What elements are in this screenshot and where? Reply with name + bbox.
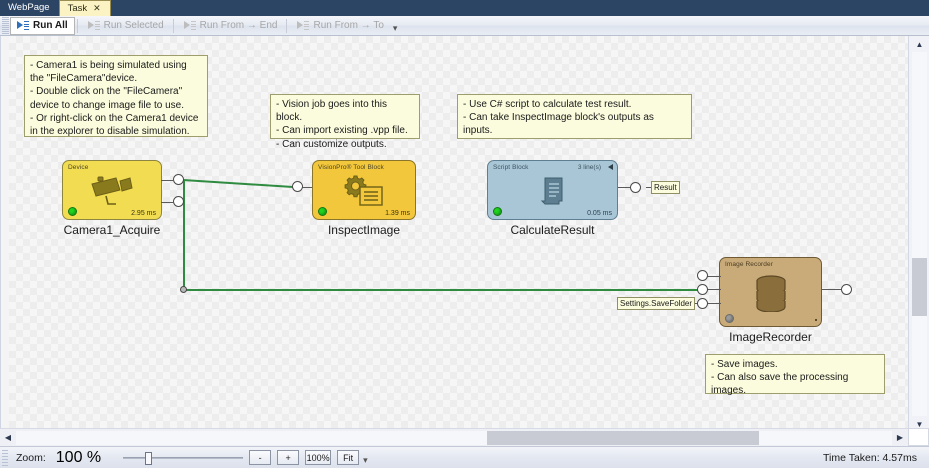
- zoom-in-button[interactable]: +: [277, 450, 299, 465]
- wire-camera-to-recorder-vertical: [183, 180, 185, 290]
- run-all-label: Run All: [33, 20, 68, 31]
- note-inspect[interactable]: - Vision job goes into this block. - Can…: [270, 94, 420, 139]
- block-image-recorder-body[interactable]: Image Recorder: [719, 257, 822, 327]
- block-calculate-result-body[interactable]: Script Block 3 line(s) 0.: [487, 160, 618, 220]
- toolbar-grip[interactable]: [2, 17, 9, 35]
- flow-canvas[interactable]: - Camera1 is being simulated using the "…: [9, 36, 908, 432]
- wire-stub-camera-out1: [161, 180, 173, 181]
- block-image-recorder[interactable]: Image Recorder ImageRecorder: [719, 257, 822, 327]
- block-inspect-image-time: 1.39 ms: [385, 210, 410, 217]
- block-image-recorder-type: Image Recorder: [725, 261, 773, 268]
- run-from-end-icon: [184, 20, 196, 31]
- status-bar-overflow-button[interactable]: ▾: [363, 455, 368, 468]
- wire-stub-camera-out2: [161, 202, 173, 203]
- block-inspect-image-body[interactable]: VisionPro® Tool Block 1.39: [312, 160, 416, 220]
- camera-icon: [63, 175, 161, 207]
- tab-bar: WebPage Task ✕: [0, 0, 929, 16]
- status-bar: Zoom: 100 % - + 100% Fit ▾ Time Taken: 4…: [0, 446, 929, 468]
- horizontal-scrollbar-track[interactable]: [16, 431, 892, 445]
- block-inspect-image[interactable]: VisionPro® Tool Block 1.39: [312, 160, 416, 220]
- block-calculate-result-type: Script Block: [493, 164, 529, 171]
- toolbar-separator-1: [77, 19, 78, 33]
- scroll-right-icon[interactable]: ▶: [892, 429, 908, 446]
- zoom-label: Zoom:: [16, 452, 46, 464]
- vertical-scrollbar-track[interactable]: [912, 52, 927, 416]
- block-calculate-result[interactable]: Script Block 3 line(s) 0.: [487, 160, 618, 220]
- zoom-slider-track[interactable]: [123, 457, 243, 459]
- tab-task[interactable]: Task ✕: [59, 0, 111, 16]
- zoom-slider[interactable]: [123, 450, 243, 466]
- run-from-to-icon: [297, 20, 309, 31]
- tag-savefolder[interactable]: Settings.SaveFolder: [617, 297, 695, 310]
- tag-result[interactable]: Result: [651, 181, 680, 194]
- tab-webpage-label: WebPage: [8, 3, 50, 13]
- wire-stub-recorder-in1: [707, 276, 721, 277]
- block-inspect-image-status: [318, 207, 327, 216]
- wire-stub-recorder-in3: [707, 303, 721, 304]
- block-camera1-acquire-type: Device: [68, 164, 88, 171]
- block-image-recorder-label: ImageRecorder: [689, 330, 852, 344]
- run-all-button[interactable]: Run All: [10, 17, 75, 35]
- toolbar-overflow-button[interactable]: ▾: [393, 23, 398, 35]
- scrollbar-corner: [908, 428, 929, 446]
- flow-canvas-container: - Camera1 is being simulated using the "…: [0, 36, 929, 432]
- script-icon: [488, 175, 617, 207]
- port-recorder-in-3[interactable]: [697, 298, 708, 309]
- run-selected-button[interactable]: Run Selected: [81, 17, 171, 35]
- tab-task-label: Task: [68, 4, 88, 14]
- block-camera1-acquire-label: Camera1_Acquire: [32, 223, 192, 237]
- toolbar-separator-2: [173, 19, 174, 33]
- block-camera1-acquire-status: [68, 207, 77, 216]
- note-recorder[interactable]: - Save images. - Can also save the proce…: [705, 354, 885, 394]
- run-from-to-button[interactable]: Run From → To: [290, 17, 390, 35]
- block-calculate-result-label: CalculateResult: [457, 223, 648, 237]
- status-bar-grip[interactable]: [2, 450, 8, 466]
- close-icon[interactable]: ✕: [93, 4, 101, 13]
- block-inspect-image-type: VisionPro® Tool Block: [318, 164, 384, 171]
- run-selected-icon: [88, 20, 100, 31]
- run-all-icon: [17, 20, 29, 31]
- scroll-left-icon[interactable]: ◀: [0, 429, 16, 446]
- time-taken-label: Time Taken: 4.57ms: [823, 452, 917, 464]
- port-recorder-out[interactable]: [841, 284, 852, 295]
- wire-stub-recorder-in2: [707, 289, 721, 290]
- wire-stub-recorder-out: [821, 289, 841, 290]
- wire-camera-to-recorder-horizontal: [183, 289, 702, 291]
- scroll-up-icon[interactable]: ▲: [909, 36, 929, 52]
- port-recorder-in-1[interactable]: [697, 270, 708, 281]
- toolbar-separator-3: [286, 19, 287, 33]
- block-image-recorder-status: [725, 314, 734, 323]
- vertical-scrollbar-thumb[interactable]: [912, 258, 927, 316]
- zoom-reset-button[interactable]: 100%: [305, 450, 331, 465]
- zoom-value: 100 %: [56, 449, 101, 467]
- zoom-out-button[interactable]: -: [249, 450, 271, 465]
- block-camera1-acquire-body[interactable]: Device 2.95 ms: [62, 160, 162, 220]
- run-from-end-button[interactable]: Run From → End: [177, 17, 285, 35]
- zoom-fit-button[interactable]: Fit: [337, 450, 359, 465]
- database-icon: [720, 272, 821, 314]
- tab-bar-filler: [111, 0, 929, 16]
- port-camera-out-1[interactable]: [173, 174, 184, 185]
- run-selected-label: Run Selected: [104, 20, 164, 31]
- port-camera-out-2[interactable]: [173, 196, 184, 207]
- block-inspect-image-label: InspectImage: [282, 223, 446, 237]
- block-camera1-acquire[interactable]: Device 2.95 ms Camera1_Acquire: [62, 160, 162, 220]
- collapse-arrow-icon[interactable]: [608, 164, 613, 170]
- run-from-to-label: Run From → To: [313, 20, 383, 31]
- port-inspect-in-1[interactable]: [292, 181, 303, 192]
- port-wire-junction[interactable]: [180, 286, 187, 293]
- block-calculate-result-time: 0.05 ms: [587, 210, 612, 217]
- block-calculate-result-status: [493, 207, 502, 216]
- block-camera1-acquire-time: 2.95 ms: [131, 210, 156, 217]
- note-camera[interactable]: - Camera1 is being simulated using the "…: [24, 55, 208, 137]
- note-calculate[interactable]: - Use C# script to calculate test result…: [457, 94, 692, 139]
- port-recorder-in-2[interactable]: [697, 284, 708, 295]
- run-from-end-label: Run From → End: [200, 20, 278, 31]
- zoom-slider-thumb[interactable]: [145, 452, 152, 465]
- block-image-recorder-resize-dot[interactable]: [815, 319, 817, 321]
- block-calculate-result-lines: 3 line(s): [578, 164, 601, 171]
- horizontal-scrollbar-thumb[interactable]: [487, 431, 759, 445]
- tab-webpage[interactable]: WebPage: [0, 0, 59, 16]
- horizontal-scrollbar[interactable]: ◀ ▶: [0, 428, 908, 446]
- port-calculate-out[interactable]: [630, 182, 641, 193]
- toolblock-icon: [313, 175, 415, 207]
- toolbar: Run All Run Selected Run From → End Run …: [0, 16, 929, 36]
- vertical-scrollbar[interactable]: ▲ ▼: [908, 36, 929, 432]
- wire-camera-to-inspect: [183, 174, 293, 190]
